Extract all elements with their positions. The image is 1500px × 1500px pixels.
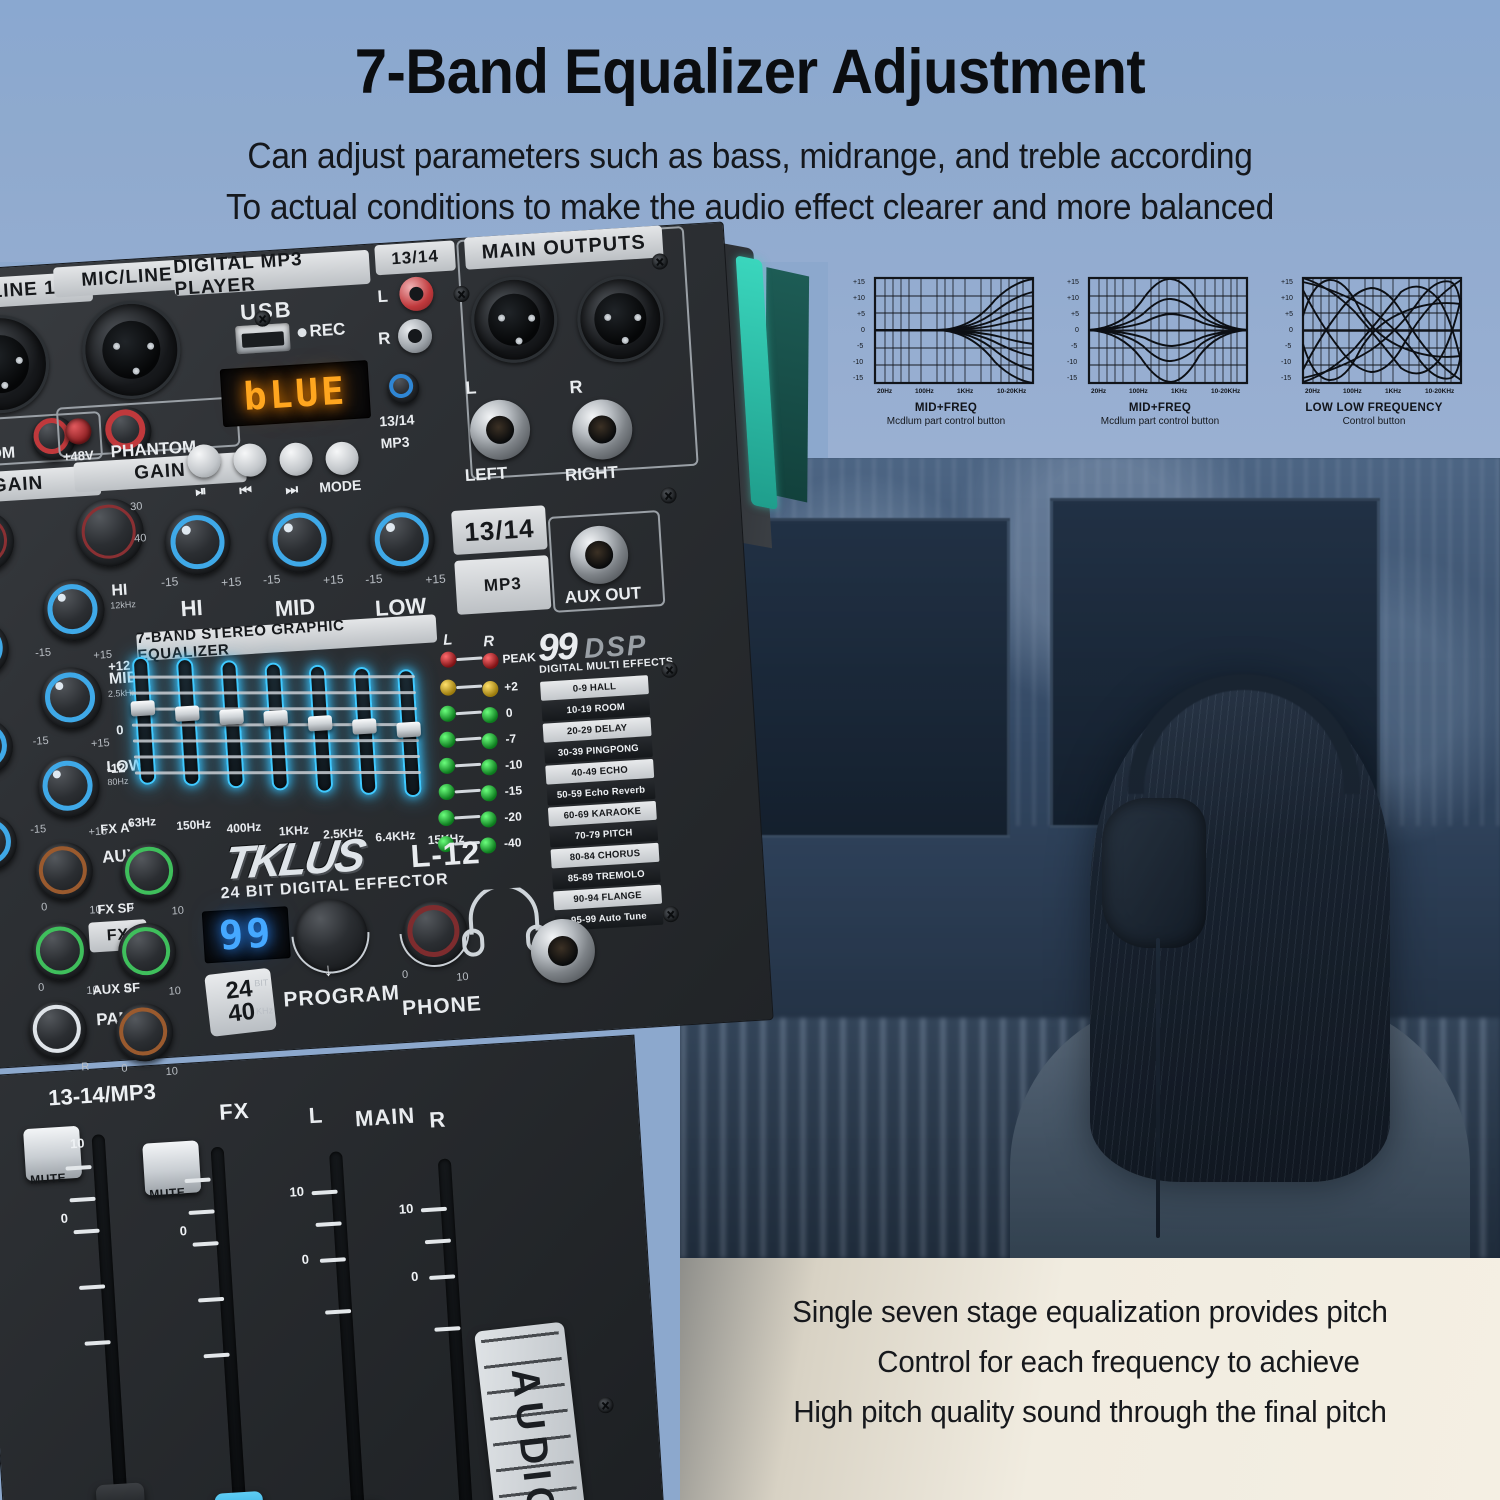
mute-label-1314: MUTE bbox=[30, 1171, 67, 1187]
eq-chart-card-1: +15+10+5 0-5-10-15 bbox=[842, 262, 1050, 427]
svg-text:100Hz: 100Hz bbox=[1129, 388, 1149, 395]
led-scale-m20: -20 bbox=[504, 809, 522, 824]
led-meter-right-label: R bbox=[483, 633, 495, 651]
eq-chart-1-subtitle: Mcdlum part control button bbox=[887, 416, 1005, 427]
svg-text:20Hz: 20Hz bbox=[1091, 388, 1107, 395]
master-low-max: +15 bbox=[425, 572, 446, 587]
led-meter-left-label: L bbox=[443, 631, 453, 649]
led-scale-0: 0 bbox=[505, 706, 513, 720]
svg-text:0: 0 bbox=[1289, 327, 1293, 334]
fader-main-r-top-value: 10 bbox=[398, 1201, 413, 1217]
svg-text:-10: -10 bbox=[1067, 359, 1077, 366]
phone-label: PHONE bbox=[402, 992, 483, 1021]
input-1314-left-label: L bbox=[377, 287, 389, 308]
ch2-hi-label: HI bbox=[111, 582, 128, 601]
eq-band-cap-4[interactable] bbox=[263, 710, 288, 726]
eq-band-cap-2[interactable] bbox=[175, 705, 200, 721]
svg-text:1KHz: 1KHz bbox=[957, 388, 974, 395]
input-1314-right-label: R bbox=[378, 329, 392, 350]
svg-text:10-20KHz: 10-20KHz bbox=[997, 388, 1027, 395]
svg-text:20Hz: 20Hz bbox=[877, 388, 893, 395]
graphic-eq-scale-mid: 0 bbox=[116, 722, 124, 737]
ch-aux-sf-label: AUX SF bbox=[92, 980, 141, 998]
svg-text:20Hz: 20Hz bbox=[1305, 388, 1321, 395]
master-mid-max: +15 bbox=[323, 572, 344, 587]
bit-badge-unit-bottom: KHz bbox=[256, 1005, 274, 1016]
fader-1314-mid-value: 0 bbox=[60, 1211, 68, 1226]
eq-chart-2-plot: +15+10+5 0-5-10-15 bbox=[1065, 270, 1255, 398]
mute-label-fx: MUTE bbox=[149, 1185, 186, 1201]
play-pause-glyph: ⏯ bbox=[195, 482, 207, 500]
program-display: 99 bbox=[202, 906, 291, 963]
master-mid-min: -15 bbox=[263, 572, 281, 587]
ch2-mid-max: +15 bbox=[91, 737, 110, 750]
mode-label: MODE bbox=[319, 477, 362, 496]
svg-text:+5: +5 bbox=[857, 311, 865, 318]
master-hi-label: HI bbox=[180, 595, 204, 622]
eq-chart-3-plot: +15+10+5 0-5-10-15 bbox=[1279, 270, 1469, 398]
master-low-min: -15 bbox=[365, 572, 383, 587]
ch-aux-min: 0 bbox=[41, 901, 48, 913]
eq-chart-1-title: MID+FREQ bbox=[915, 402, 977, 414]
master-hi-min: -15 bbox=[161, 574, 179, 589]
fader-main-group-label: MAIN bbox=[354, 1103, 416, 1133]
jack-right-label: RIGHT bbox=[564, 463, 618, 486]
master-hi-max: +15 bbox=[221, 574, 242, 589]
ch-fx-sf-max: 10 bbox=[168, 985, 181, 998]
xlr-left-label: L bbox=[465, 377, 477, 399]
svg-text:-5: -5 bbox=[1071, 343, 1077, 350]
mp3-badge-text: MP3 bbox=[454, 555, 551, 615]
svg-text:+15: +15 bbox=[853, 279, 865, 286]
fader-1314-top-value: 10 bbox=[70, 1135, 85, 1151]
svg-text:+15: +15 bbox=[1067, 279, 1079, 286]
eq-chart-1-plot: +15+10+5 0-5-10-15 bbox=[851, 270, 1041, 398]
svg-text:1KHz: 1KHz bbox=[1171, 388, 1188, 395]
ch2-low-freq: 80Hz bbox=[107, 776, 129, 787]
eq-band-cap-6[interactable] bbox=[352, 718, 377, 734]
svg-text:+5: +5 bbox=[1285, 311, 1293, 318]
svg-text:1KHz: 1KHz bbox=[1385, 388, 1402, 395]
svg-text:+10: +10 bbox=[853, 295, 865, 302]
fader-main-l-top-value: 10 bbox=[289, 1184, 304, 1200]
eq-band-freq-2: 150Hz bbox=[176, 817, 211, 833]
svg-text:10-20KHz: 10-20KHz bbox=[1425, 388, 1455, 395]
svg-text:+15: +15 bbox=[1281, 279, 1293, 286]
bit-badge-bottom: 40 bbox=[227, 1001, 256, 1027]
channel-12-gain-scale-40: 40 bbox=[134, 532, 147, 545]
source-label-1314: 13/14 bbox=[379, 411, 415, 429]
fader-main-r-mid-value: 0 bbox=[411, 1269, 419, 1284]
ch2-mid-min: -15 bbox=[32, 735, 49, 748]
eq-chart-3-subtitle: Control button bbox=[1343, 416, 1406, 427]
fader-main-right-label: R bbox=[428, 1107, 445, 1134]
channel-12-gain-scale-30: 30 bbox=[130, 500, 143, 513]
mp3-player-header: DIGITAL MP3 PLAYER bbox=[173, 250, 371, 296]
led-scale-peak: PEAK bbox=[502, 650, 536, 666]
bit-badge-unit-top: BIT bbox=[254, 978, 269, 989]
svg-text:-10: -10 bbox=[853, 359, 863, 366]
eq-band-cap-1[interactable] bbox=[130, 700, 155, 716]
ch-fx-sf-label: FX SF bbox=[97, 900, 135, 917]
ch2-low-min: -15 bbox=[30, 823, 47, 836]
svg-text:+10: +10 bbox=[1281, 295, 1293, 302]
fader-fx-mid-value: 0 bbox=[179, 1223, 187, 1238]
eq-band-freq-1: 63Hz bbox=[128, 814, 157, 830]
ch2-hi-freq: 12kHz bbox=[110, 599, 136, 611]
mp3-display-text: bLUE bbox=[242, 368, 348, 418]
ch-aux-sf-min: 0 bbox=[121, 1063, 128, 1075]
header-subtitle-line1: Can adjust parameters such as bass, midr… bbox=[53, 135, 1448, 177]
input-1314-header: 13/14 bbox=[374, 240, 456, 275]
usb-port[interactable] bbox=[235, 323, 291, 354]
eq-band-cap-7[interactable] bbox=[396, 721, 421, 737]
jack-left-label: LEFT bbox=[464, 464, 508, 487]
led-scale-m7: -7 bbox=[505, 731, 517, 746]
eq-chart-3-title: LOW LOW FREQUENCY bbox=[1305, 402, 1442, 414]
prev-track-glyph: ⏮ bbox=[239, 482, 253, 500]
ch-fx-min: 0 bbox=[38, 982, 45, 994]
ch-fx-a-max: 10 bbox=[171, 905, 184, 918]
fader-main-l-mid-value: 0 bbox=[301, 1252, 309, 1267]
eq-band-cap-3[interactable] bbox=[219, 709, 244, 725]
program-display-text: 99 bbox=[218, 910, 275, 959]
svg-text:100Hz: 100Hz bbox=[1343, 388, 1363, 395]
led-scale-plus2: +2 bbox=[504, 679, 519, 694]
mp3-badge-number: 13/14 bbox=[451, 505, 548, 555]
mp3-display: bLUE bbox=[220, 360, 371, 427]
eq-chart-card-2: +15+10+5 0-5-10-15 bbox=[1056, 262, 1264, 427]
eq-band-cap-5[interactable] bbox=[308, 715, 333, 731]
program-down-arrow-icon: ↓ bbox=[323, 959, 333, 981]
svg-text:10-20KHz: 10-20KHz bbox=[1211, 388, 1241, 395]
fader-cap-1314[interactable] bbox=[96, 1482, 148, 1500]
phone-max: 10 bbox=[456, 971, 469, 984]
led-scale-m15: -15 bbox=[504, 783, 522, 798]
eq-chart-2-title: MID+FREQ bbox=[1129, 402, 1191, 414]
eq-chart-2-subtitle: Mcdlum part control button bbox=[1101, 416, 1219, 427]
graphic-eq-scale-bottom: -12 bbox=[106, 760, 126, 776]
dsp-effects-list: 0-9 HALL 10-19 ROOM 20-29 DELAY 30-39 PI… bbox=[540, 675, 664, 933]
svg-text:-15: -15 bbox=[853, 375, 863, 382]
fader-group-fx-label: FX bbox=[195, 1094, 273, 1131]
page-title: 7-Band Equalizer Adjustment bbox=[60, 36, 1440, 108]
ch2-hi-min: -15 bbox=[35, 647, 52, 660]
svg-text:-10: -10 bbox=[1281, 359, 1291, 366]
audio-mixer-device: MIC/LINE 11 PHANTOM GAIN 10 40 MIC/LINE … bbox=[0, 258, 818, 1500]
svg-text:+10: +10 bbox=[1067, 295, 1079, 302]
svg-text:0: 0 bbox=[861, 327, 865, 334]
svg-text:-15: -15 bbox=[1281, 375, 1291, 382]
led-scale-m40: -40 bbox=[504, 835, 522, 850]
graphic-eq-sliders bbox=[128, 638, 449, 817]
xlr-right-label: R bbox=[569, 377, 583, 399]
eq-response-chart-strip: +15+10+5 0-5-10-15 bbox=[828, 262, 1500, 458]
source-label-mp3: MP3 bbox=[380, 434, 410, 452]
svg-text:+5: +5 bbox=[1071, 311, 1079, 318]
svg-text:-15: -15 bbox=[1067, 375, 1077, 382]
svg-text:-5: -5 bbox=[857, 343, 863, 350]
master-mid-label: MID bbox=[274, 594, 316, 622]
ch-pan-max: R bbox=[81, 1061, 90, 1073]
svg-text:-5: -5 bbox=[1285, 343, 1291, 350]
eq-chart-card-3: +15+10+5 0-5-10-15 bbox=[1270, 262, 1478, 427]
svg-text:0: 0 bbox=[1075, 327, 1079, 334]
next-track-glyph: ⏭ bbox=[285, 481, 299, 499]
led-scale-m10: -10 bbox=[505, 757, 523, 772]
phone-min: 0 bbox=[402, 969, 409, 981]
fader-main-left-label: L bbox=[308, 1102, 323, 1129]
svg-text:100Hz: 100Hz bbox=[915, 388, 935, 395]
rec-label: REC bbox=[309, 319, 346, 341]
